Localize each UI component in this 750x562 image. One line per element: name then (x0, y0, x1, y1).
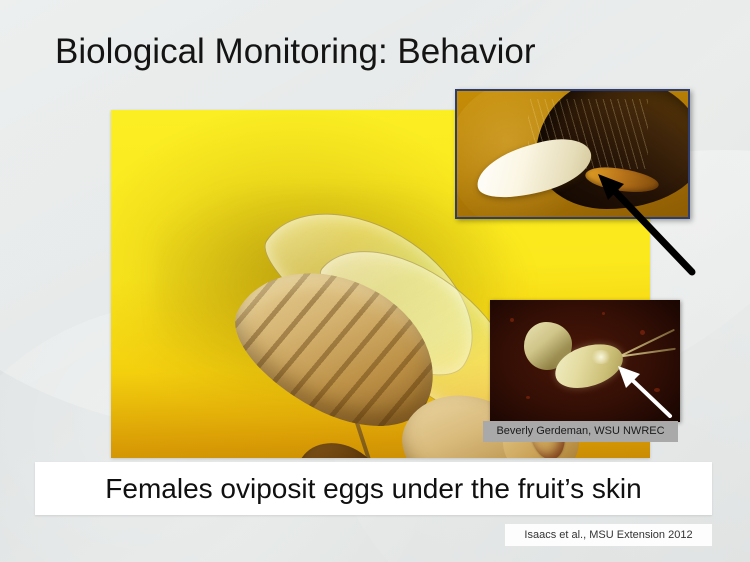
inset-egg-highlight (590, 350, 612, 364)
inset-egg-speck (526, 396, 530, 399)
inset-egg-speck (510, 318, 514, 322)
inset-egg-speck (602, 312, 605, 315)
fly-abdomen-tip (286, 427, 402, 458)
source-credit-label: Isaacs et al., MSU Extension 2012 (505, 524, 712, 546)
inset-photo-ovipositor (455, 89, 690, 219)
page-title: Biological Monitoring: Behavior (55, 30, 695, 74)
photo-credit-label: Beverly Gerdeman, WSU NWREC (483, 421, 678, 442)
white-arrow-pointing-to-egg (610, 360, 680, 422)
caption-text: Females oviposit eggs under the fruit’s … (35, 462, 712, 515)
slide-canvas: Biological Monitoring: Behavior (0, 0, 750, 562)
inset-egg-speck (640, 330, 645, 335)
inset-photo-egg (490, 300, 680, 422)
caption-box: Females oviposit eggs under the fruit’s … (35, 462, 712, 515)
inset-egg-speck (654, 388, 660, 392)
